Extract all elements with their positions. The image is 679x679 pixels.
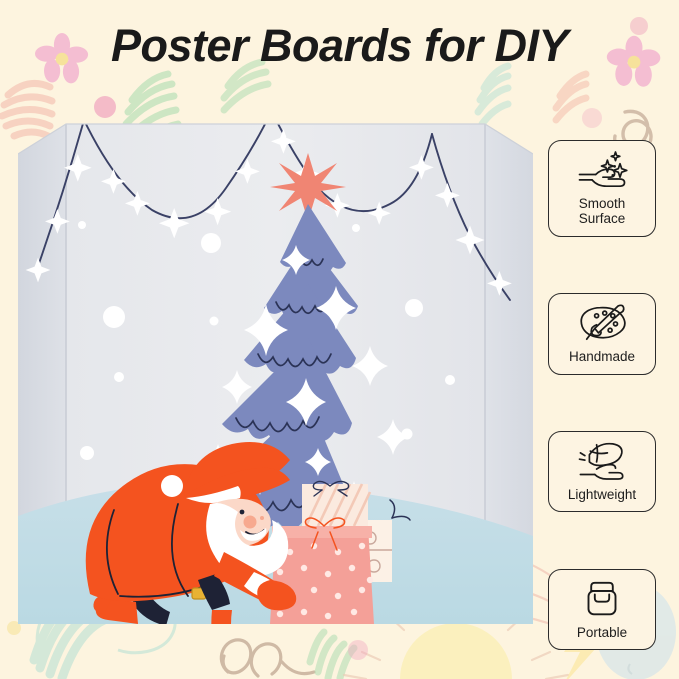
feature-label: Handmade bbox=[569, 349, 635, 364]
santa-hat-pompom bbox=[161, 475, 183, 497]
feature-card-portable[interactable]: Portable bbox=[548, 569, 656, 650]
feature-list: SmoothSurface Handmade bbox=[548, 140, 664, 650]
board-panels bbox=[18, 112, 533, 624]
product-infographic: Poster Boards for DIY bbox=[0, 0, 679, 679]
feature-label: Lightweight bbox=[568, 487, 636, 502]
poster-board bbox=[18, 112, 533, 624]
santa-cheek bbox=[244, 516, 257, 529]
feather-hand-icon bbox=[575, 440, 629, 482]
feature-card-handmade[interactable]: Handmade bbox=[548, 293, 656, 374]
sparkle-hand-icon bbox=[575, 149, 629, 191]
feature-label: SmoothSurface bbox=[579, 196, 626, 227]
dot-pink-rightedge bbox=[582, 108, 602, 128]
squiggle-tan-bottom bbox=[221, 640, 314, 676]
briefcase-icon bbox=[575, 578, 629, 620]
scribble-salmon-topright bbox=[556, 74, 586, 120]
gift-box-striped-top bbox=[302, 481, 370, 526]
feature-card-smooth-surface[interactable]: SmoothSurface bbox=[548, 140, 656, 237]
paint-palette-icon bbox=[575, 302, 629, 344]
page-title: Poster Boards for DIY bbox=[0, 22, 679, 69]
scribble-green-bottom bbox=[310, 632, 354, 678]
feature-card-lightweight[interactable]: Lightweight bbox=[548, 431, 656, 512]
feature-label: Portable bbox=[577, 625, 627, 640]
dot-pink-bottom bbox=[348, 640, 368, 660]
santa-eye bbox=[240, 510, 245, 515]
